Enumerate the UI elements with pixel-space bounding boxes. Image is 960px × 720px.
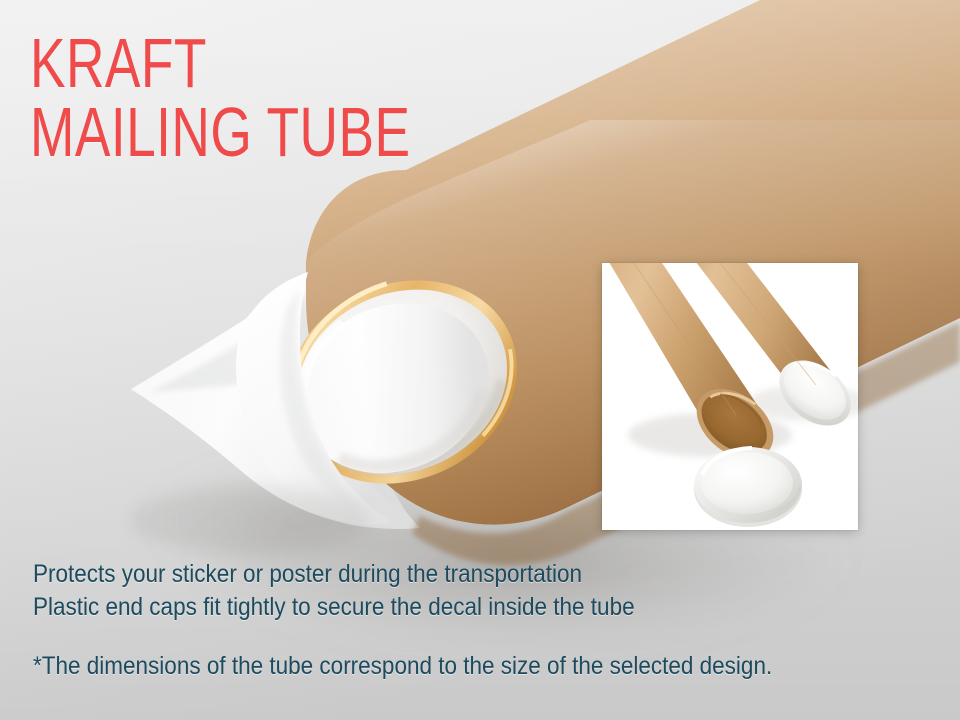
- benefit-line-1: Protects your sticker or poster during t…: [33, 558, 635, 591]
- headline-line-2: MAILING TUBE: [30, 101, 410, 167]
- inset-product-photo: [602, 263, 858, 530]
- footnote-line: *The dimensions of the tube correspond t…: [33, 652, 772, 681]
- benefits-text: Protects your sticker or poster during t…: [33, 558, 701, 623]
- page-title: KRAFT MAILING TUBE: [30, 32, 472, 160]
- footnote-text: *The dimensions of the tube correspond t…: [33, 652, 854, 681]
- poster-canvas: KRAFT MAILING TUBE: [0, 0, 960, 720]
- benefit-line-2: Plastic end caps fit tightly to secure t…: [33, 591, 635, 624]
- headline-line-1: KRAFT: [30, 32, 410, 98]
- inset-photo-artwork: [602, 263, 858, 530]
